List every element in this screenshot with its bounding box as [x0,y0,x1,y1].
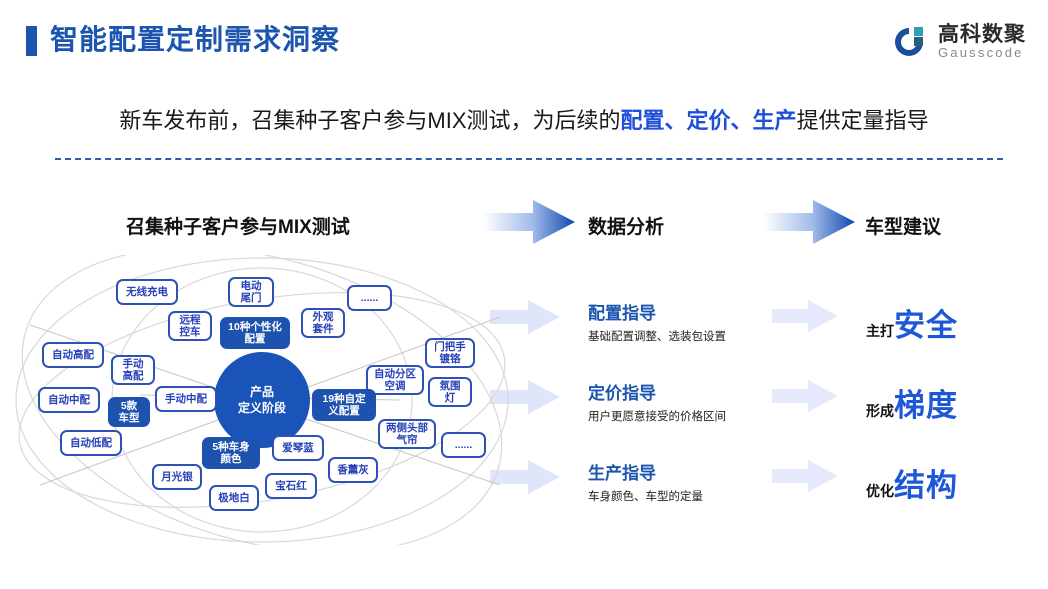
result-arrow-structure-icon [772,460,838,492]
row-title-config: 配置指导 [588,303,726,325]
column-header-mix-test: 召集种子客户参与MIX测试 [126,212,350,239]
mindmap-node: 手动 高配 [111,355,155,385]
mindmap-node: 电动 尾门 [228,277,274,307]
mindmap-node: 自动高配 [42,342,104,368]
mindmap-node: ...... [441,432,486,458]
logo-name-cn: 高科数聚 [938,24,1026,46]
mindmap-diagram: 产品 定义阶段 无线充电电动 尾门......远程 控车10种个性化 配置外观 … [0,255,530,545]
mindmap-node: 极地白 [209,485,259,511]
mindmap-node: 爱琴蓝 [272,435,324,461]
header-arrow-2-icon [763,200,855,244]
result-arrow-tier-icon [772,380,838,412]
mindmap-node: 自动分区 空调 [366,365,424,395]
result-prefix-tier: 形成 [866,401,894,421]
subtitle: 新车发布前，召集种子客户参与MIX测试，为后续的配置、定价、生产提供定量指导 [0,104,1048,138]
result-key-tier: 梯度 [894,380,958,425]
mindmap-node: 香薰灰 [328,457,378,483]
mindmap-node: 自动中配 [38,387,100,413]
row-block-production: 生产指导 车身颜色、车型的定量 [588,463,703,506]
result-safety: 主打 安全 [866,300,958,345]
mindmap-node: 19种自定 义配置 [312,389,376,421]
gausscode-logo-icon [895,25,929,59]
mindmap-node: 两侧头部 气帘 [378,419,436,449]
mindmap-hub: 产品 定义阶段 [214,352,310,448]
slide-header: 智能配置定制需求洞察 高科数聚 Gausscode [0,0,1048,82]
row-block-config: 配置指导 基础配置调整、选装包设置 [588,303,726,346]
mindmap-node: 宝石红 [265,473,317,499]
row-title-production: 生产指导 [588,463,703,485]
mindmap-node: 无线充电 [116,279,178,305]
result-key-safety: 安全 [894,300,958,345]
result-prefix-structure: 优化 [866,481,894,501]
row-desc-production: 车身颜色、车型的定量 [588,488,703,506]
result-structure: 优化 结构 [866,460,958,505]
mindmap-node: 门把手 镀铬 [425,338,475,368]
mindmap-node: 外观 套件 [301,308,345,338]
page-title: 智能配置定制需求洞察 [50,22,340,58]
mindmap-node: 氛围 灯 [428,377,472,407]
row-title-pricing: 定价指导 [588,383,726,405]
logo-name-en: Gausscode [938,46,1026,60]
mindmap-node: 月光银 [152,464,202,490]
mindmap-node: 5款 车型 [108,397,150,427]
mindmap-node: 自动低配 [60,430,122,456]
header-arrow-1-icon [483,200,575,244]
column-header-data-analysis: 数据分析 [588,212,664,239]
section-divider [55,158,1003,160]
company-logo: 高科数聚 Gausscode [895,20,1026,64]
result-prefix-safety: 主打 [866,321,894,341]
result-key-structure: 结构 [894,460,958,505]
row-block-pricing: 定价指导 用户更愿意接受的价格区间 [588,383,726,426]
row-desc-pricing: 用户更愿意接受的价格区间 [588,408,726,426]
result-tier: 形成 梯度 [866,380,958,425]
mindmap-node: ...... [347,285,392,311]
mindmap-node: 远程 控车 [168,311,212,341]
mindmap-node: 10种个性化 配置 [220,317,290,349]
subtitle-part2: 提供定量指导 [797,108,929,133]
mindmap-node: 5种车身 颜色 [202,437,260,469]
slide: 智能配置定制需求洞察 高科数聚 Gausscode 新车发布前，召集种子客户参与… [0,0,1048,589]
subtitle-part1: 新车发布前，召集种子客户参与MIX测试，为后续的 [119,108,620,133]
column-header-model-advice: 车型建议 [865,212,941,239]
title-accent-bar [26,26,37,56]
subtitle-highlight: 配置、定价、生产 [621,108,797,133]
result-arrow-safety-icon [772,300,838,332]
mindmap-node: 手动中配 [155,386,217,412]
row-desc-config: 基础配置调整、选装包设置 [588,328,726,346]
